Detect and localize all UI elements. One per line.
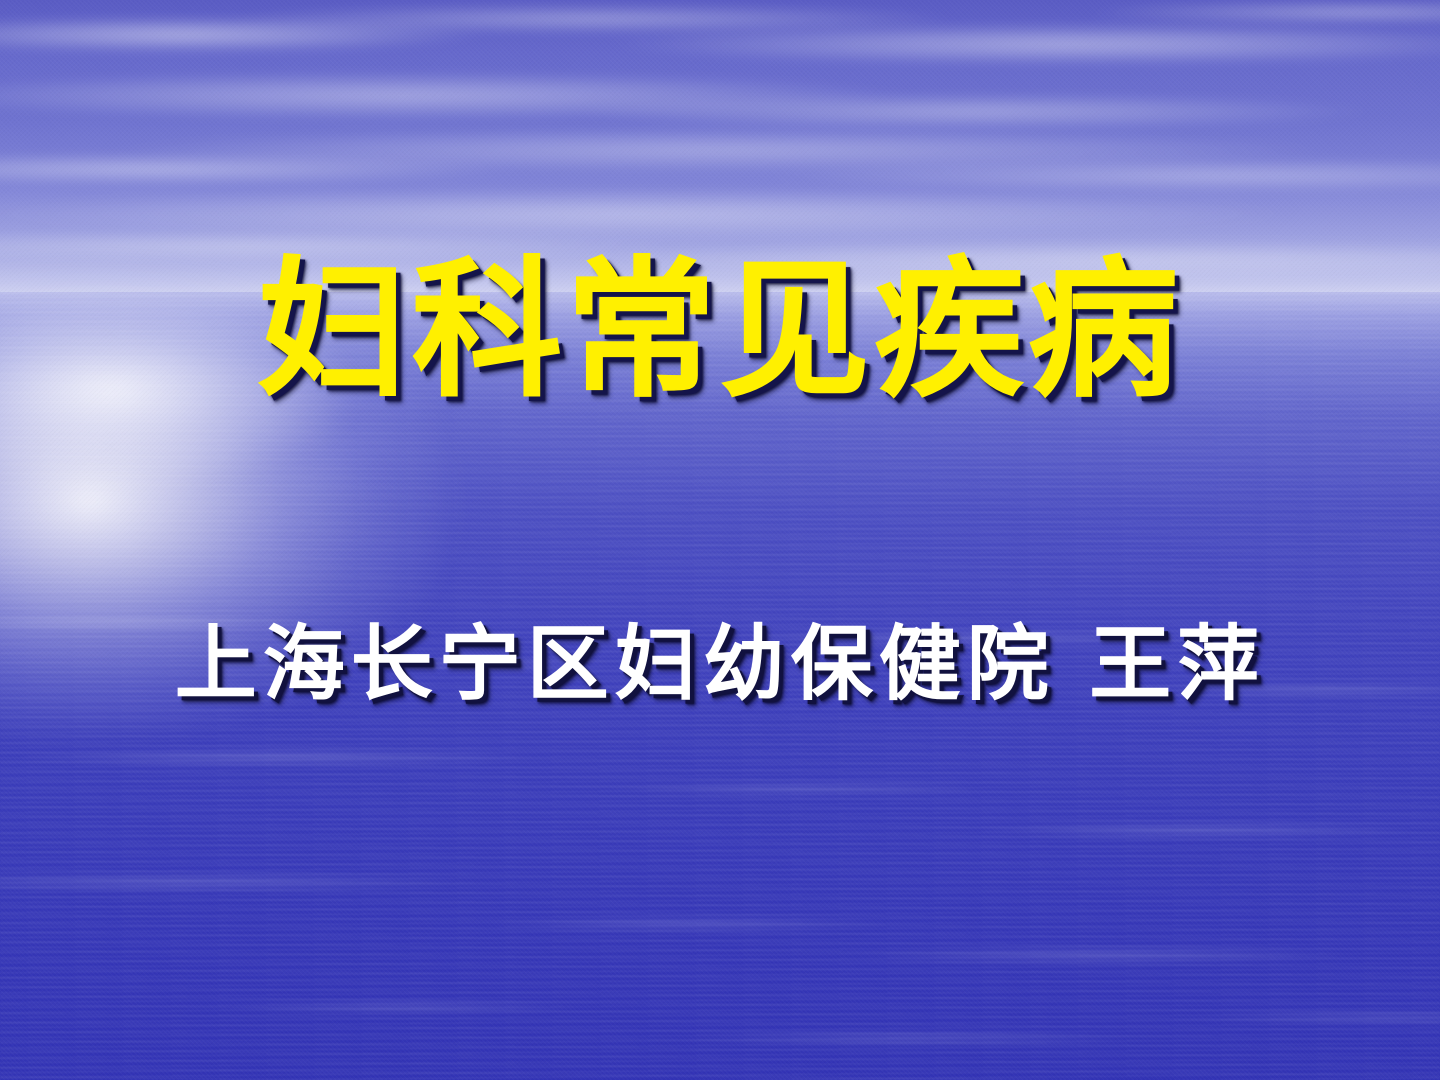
slide-text-layer: 妇科常见疾病 上海长宁区妇幼保健院 王萍 bbox=[0, 0, 1440, 1080]
title-slide: 妇科常见疾病 上海长宁区妇幼保健院 王萍 bbox=[0, 0, 1440, 1080]
slide-title: 妇科常见疾病 bbox=[0, 252, 1440, 411]
slide-subtitle: 上海长宁区妇幼保健院 王萍 bbox=[0, 620, 1440, 710]
